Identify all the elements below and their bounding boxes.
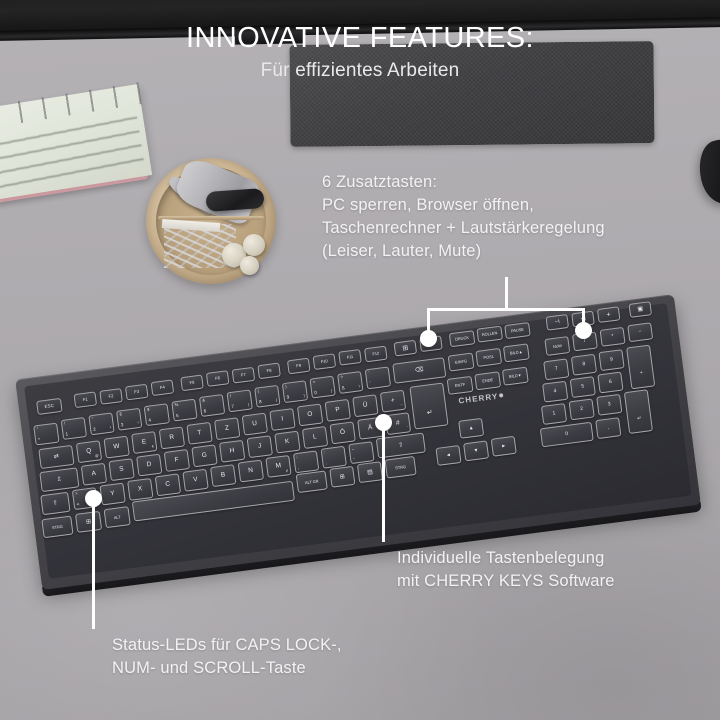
key-1[interactable]: !1 [61,417,87,440]
callout-dot-volume-keys [575,322,592,339]
key-f7[interactable]: F7 [232,367,256,384]
key-menu[interactable]: ▤ [357,461,383,483]
volume-up-icon: + [606,311,611,318]
key-w[interactable]: W [103,436,129,459]
key-5[interactable]: %5 [171,399,197,422]
key-9[interactable]: )9] [282,380,308,403]
key-s[interactable]: S [108,458,134,481]
key-enter[interactable]: ↵ [409,383,448,430]
callout-line-status-leds [92,504,95,629]
key-comma[interactable]: ;, [293,450,319,473]
shift-icon: ⇧ [398,442,404,449]
key-l[interactable]: L [302,426,328,449]
key-g[interactable]: G [191,444,217,467]
arrow-right-icon: ► [501,443,507,449]
key-b[interactable]: B [210,464,236,487]
key-r[interactable]: R [159,426,185,449]
key-num-lock[interactable]: NUM [544,336,570,356]
backspace-icon: ⌫ [415,367,424,374]
key-f8[interactable]: F8 [257,362,281,379]
arrow-up-icon: ▲ [468,426,474,432]
menu-icon: ▤ [367,469,373,476]
key-d[interactable]: D [136,454,162,477]
key-numpad-2[interactable]: 2 [569,398,595,420]
key-einfg[interactable]: EINFG [448,353,475,372]
key-z[interactable]: Z [214,417,240,440]
page-subtitle: Für effizientes Arbeiten [0,60,720,82]
calculator-icon-key[interactable]: ⊞ [393,340,417,357]
key-bild-up[interactable]: BILD▲ [503,343,530,362]
key-numpad-1[interactable]: 1 [541,403,567,425]
key-h[interactable]: H [219,440,245,463]
key-0[interactable]: =0} [309,376,335,399]
key-a[interactable]: A [81,463,107,486]
key-entf[interactable]: ENTF [447,376,474,395]
key-bild-down[interactable]: BILD▼ [502,367,529,386]
key-numpad-5[interactable]: 5 [570,376,596,398]
key-f6[interactable]: F6 [206,370,230,387]
key-v[interactable]: V [182,469,208,492]
key-numpad-9[interactable]: 9 [598,349,624,371]
caps-lock-icon: ⇫ [56,476,62,483]
key-o[interactable]: O [297,403,323,426]
callout-dot-calculator-key [420,330,437,347]
key-f5[interactable]: F5 [180,375,204,392]
key-numpad-3[interactable]: 3 [596,394,622,416]
callout-line-key-assignment [382,428,385,542]
key-f11[interactable]: F11 [338,349,362,366]
key-u[interactable]: U [242,413,268,436]
mute-icon: ⊣ [554,319,560,326]
key-eszett[interactable]: ?ß\ [337,371,363,394]
key-uumlaut[interactable]: Ü [352,394,378,417]
key-circumflex[interactable]: °^ [33,423,59,446]
key-f9[interactable]: F9 [287,358,311,375]
key-m[interactable]: Mµ [265,455,291,478]
arrow-down-icon: ▼ [473,448,479,454]
key-4[interactable]: $4 [144,403,170,426]
key-numpad-7[interactable]: 7 [543,358,569,380]
key-n[interactable]: N [238,460,264,483]
key-arrow-left[interactable]: ◄ [435,445,461,466]
key-7[interactable]: /7{ [227,389,253,412]
callout-stem-extra-keys [505,277,508,310]
cherry-logo-dot [499,393,503,397]
key-e[interactable]: E€ [131,431,157,454]
key-shift-left[interactable]: ⇧ [40,492,70,515]
key-windows-right[interactable]: ⊞ [329,466,355,488]
key-numpad-comma[interactable]: , [595,417,621,439]
callout-bracket-extra-keys [427,308,585,311]
key-arrow-down[interactable]: ▼ [463,440,489,461]
callout-text-key-assignment: Individuelle Tastenbelegung mit CHERRY K… [397,547,707,593]
key-f3[interactable]: F3 [125,384,149,401]
key-period[interactable]: :. [321,446,347,469]
key-pos1[interactable]: POS1 [475,348,502,367]
key-2[interactable]: "2² [88,412,114,435]
browser-icon: ▣ [637,306,643,313]
bowl-coin [243,234,265,256]
key-f[interactable]: F [164,449,190,472]
key-t[interactable]: T [186,422,212,445]
volume-mute-key[interactable]: ⊣ [545,314,569,331]
key-arrow-right[interactable]: ► [491,436,517,457]
product-feature-image: CHERRY ESC F1 F2 F3 F4 F5 F6 F7 F8 F9 F1… [0,0,720,720]
key-minus[interactable]: _- [348,441,374,464]
numpad-enter-icon: ↵ [637,416,642,421]
key-q[interactable]: Q@ [76,440,102,463]
callout-text-extra-keys: 6 Zusatztasten: PC sperren, Browser öffn… [322,171,710,263]
key-y[interactable]: Y [99,483,125,506]
key-numpad-multiply[interactable]: * [600,327,626,347]
key-j[interactable]: J [247,435,273,458]
windows-icon: ⊞ [339,474,345,481]
mousepad [289,41,654,147]
key-strg-left[interactable]: STRG [41,516,73,539]
key-numpad-8[interactable]: 8 [571,354,597,376]
key-numpad-6[interactable]: 6 [597,372,623,394]
key-c[interactable]: C [155,473,181,496]
key-k[interactable]: K [274,431,300,454]
key-windows-left[interactable]: ⊞ [75,511,102,533]
key-acute[interactable]: `´ [365,366,391,389]
key-numpad-minus[interactable]: − [627,322,653,342]
shift-icon: ⇧ [53,500,59,507]
key-plus[interactable]: +~ [380,390,406,413]
callout-text-status-leds: Status-LEDs für CAPS LOCK-, NUM- und SCR… [112,634,432,680]
key-f12[interactable]: F12 [364,346,388,363]
key-f2[interactable]: F2 [99,388,123,405]
key-3[interactable]: §3³ [116,408,142,431]
tab-icon: ⇄ [54,454,60,461]
key-x[interactable]: X [127,478,153,501]
volume-up-key[interactable]: + [597,306,621,323]
key-f10[interactable]: F10 [313,353,337,370]
key-alt-gr[interactable]: ALT GR [296,470,328,493]
key-arrow-up[interactable]: ▲ [458,418,484,439]
bowl-key-fob [205,188,264,212]
bowl-coin [240,256,259,275]
windows-icon: ⊞ [86,519,92,526]
key-p[interactable]: P [325,399,351,422]
key-ende[interactable]: ENDE [474,371,501,390]
arrow-left-icon: ◄ [446,453,452,459]
calculator-icon: ⊞ [402,344,409,352]
enter-icon: ↵ [427,409,434,417]
key-i[interactable]: I [269,408,295,431]
key-numpad-4[interactable]: 4 [542,381,568,403]
key-strg-right[interactable]: STRG [385,456,417,479]
key-6[interactable]: &6 [199,394,225,417]
page-title: INNOVATIVE FEATURES: [0,22,720,55]
key-8[interactable]: (8[ [254,385,280,408]
key-alt-left[interactable]: ALT [104,506,131,528]
key-f1[interactable]: F1 [73,391,97,408]
key-oumlaut[interactable]: Ö [330,421,356,444]
browser-lock-key[interactable]: ▣ [628,301,652,318]
key-f4[interactable]: F4 [151,379,175,396]
